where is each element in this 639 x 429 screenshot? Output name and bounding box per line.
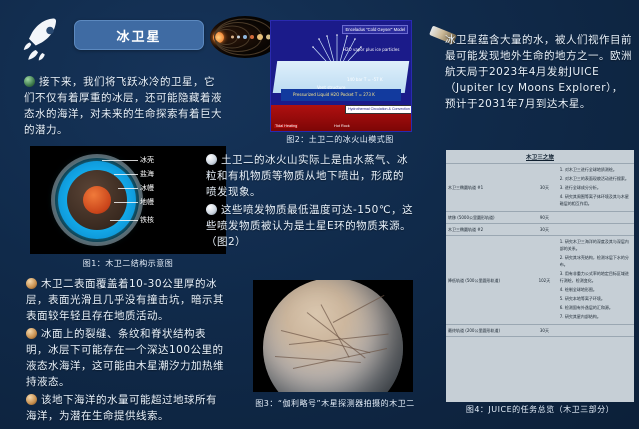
table-objective-item: 5. 研究本地等离子环境。 bbox=[560, 295, 632, 302]
europa-globe bbox=[263, 280, 403, 392]
mission-table: 木卫三椭圆轨道 #130天1. 对木卫三进行全球地质测绘。2. 对木卫三的表面现… bbox=[446, 163, 634, 337]
table-objective-item: 4. 绘制全球地形图。 bbox=[560, 286, 632, 293]
middle-paragraph-1: 土卫二的冰火山实际上是由水蒸气、冰粒和有机物质等物质从地下喷出，形成的喷发现象。 bbox=[206, 152, 414, 200]
table-row: 转移 (5000公里圆形轨道)90天 bbox=[446, 212, 634, 224]
middle-paragraphs: 土卫二的冰火山实际上是由水蒸气、冰粒和有机物质等物质从地下喷出，形成的喷发现象。… bbox=[206, 152, 414, 250]
figure4-caption: 图4：JUICE的任务总览（木卫三部分） bbox=[446, 404, 634, 415]
middle-text-2: 这些喷发物质最低温度可达-150℃，这些喷发物质被认为是土星E环的物质来源。（图… bbox=[206, 204, 413, 248]
figure1-label-4: 铁核 bbox=[140, 215, 154, 225]
figure2-label-4: Hydrothermal Circulation & Convection bbox=[345, 105, 412, 114]
figure2-label-3: Pressurized Liquid H2O Pocket T = 273 K bbox=[293, 92, 375, 97]
right-intro-text: 冰卫星蕴含大量的水，被人们视作目前最可能发现地外生命的地方之一。欧洲航天局于20… bbox=[445, 34, 632, 110]
slide-header: 冰卫星 bbox=[12, 10, 272, 64]
table-row: 木卫三椭圆轨道 #130天1. 对木卫三进行全球地质测绘。2. 对木卫三的表面现… bbox=[446, 164, 634, 212]
bottom-text-2: 冰面上的裂缝、条纹和脊状结构表明，冰层下可能存在一个深达100公里的液态水海洋，… bbox=[26, 328, 224, 388]
table-cell-objectives: 1. 研究木卫三海洋的深度及其与深层内部的关系。2. 研究其冰壳结构，检测冰层下… bbox=[558, 236, 634, 325]
europa-bullet-icon-3 bbox=[26, 394, 37, 405]
table-title: 木卫三之旅 bbox=[446, 150, 634, 163]
table-cell-objectives bbox=[558, 212, 634, 224]
figure1-caption: 图1：木卫二结构示意图 bbox=[30, 258, 226, 269]
slide-canvas: 冰卫星 接下来，我们将飞跃冰冷的卫星，它们不仅有着厚重的冰层，还可能隐藏着液态水… bbox=[0, 0, 639, 429]
slide-title-pill: 冰卫星 bbox=[74, 20, 204, 50]
bottom-text-1: 木卫二表面覆盖着10-30公里厚的冰层，表面光滑且几乎没有撞击坑，暗示其表面较年… bbox=[26, 278, 224, 322]
europa-bullet-icon-1 bbox=[26, 278, 37, 289]
rocket-icon bbox=[18, 14, 70, 62]
intro-paragraph: 接下来，我们将飞跃冰冷的卫星，它们不仅有着厚重的冰层，还可能隐藏着液态水的海洋，… bbox=[24, 74, 224, 138]
bottom-paragraphs: 木卫二表面覆盖着10-30公里厚的冰层，表面光滑且几乎没有撞击坑，暗示其表面较年… bbox=[26, 276, 226, 424]
middle-paragraph-2: 这些喷发物质最低温度可达-150℃，这些喷发物质被认为是土星E环的物质来源。（图… bbox=[206, 202, 414, 250]
table-cell-phase: 最终轨道 (200公里圆形轨道) bbox=[446, 325, 531, 337]
bottom-paragraph-2: 冰面上的裂缝、条纹和脊状结构表明，冰层下可能存在一个深达100公里的液态水海洋，… bbox=[26, 326, 226, 390]
figure1-label-1: 盐海 bbox=[140, 169, 154, 179]
table-cell-duration: 90天 bbox=[531, 212, 558, 224]
mission-table-body: 木卫三椭圆轨道 #130天1. 对木卫三进行全球地质测绘。2. 对木卫三的表面现… bbox=[446, 164, 634, 337]
table-objective-item: 1. 研究木卫三海洋的深度及其与深层内部的关系。 bbox=[560, 238, 632, 252]
table-cell-objectives bbox=[558, 325, 634, 337]
bottom-text-3: 该地下海洋的水量可能超过地球所有海洋，为潜在生命提供线索。 bbox=[26, 394, 217, 422]
table-objective-item: 3. 进行全球成分分析。 bbox=[560, 184, 632, 191]
table-cell-objectives bbox=[558, 224, 634, 236]
figure2-label-0: H2O vapor plus ice particles bbox=[343, 47, 399, 52]
table-objective-item: 2. 研究其冰壳结构，检测冰层下水的分布。 bbox=[560, 254, 632, 268]
figure2-label-6: Hot Rock bbox=[333, 124, 351, 128]
figure1-europa-cross-section: 冰壳 盐海 冰幔 地幔 铁核 bbox=[30, 146, 226, 254]
figure2-caption: 图2：土卫二的冰火山模式图 bbox=[270, 134, 410, 145]
table-cell-duration: 30天 bbox=[531, 224, 558, 236]
figure2-label-5: Tidal Heating bbox=[274, 124, 298, 128]
page-title: 冰卫星 bbox=[116, 26, 161, 45]
table-cell-objectives: 1. 对木卫三进行全球地质测绘。2. 对木卫三的表面现貌活动进行搜索。3. 进行… bbox=[558, 164, 634, 212]
moon-bullet-icon-2 bbox=[206, 204, 217, 215]
figure3-caption: 图3：“伽利略号”木星探测器拍摄的木卫二 bbox=[245, 398, 425, 409]
table-row: 木卫三椭圆轨道 #230天 bbox=[446, 224, 634, 236]
table-row: 最终轨道 (200公里圆形轨道)30天 bbox=[446, 325, 634, 337]
figure1-label-2: 冰幔 bbox=[140, 183, 154, 193]
table-objective-item: 6. 检测固有外逸层的汇和源。 bbox=[560, 304, 632, 311]
table-cell-phase: 转移 (5000公里圆形轨道) bbox=[446, 212, 531, 224]
figure4-juice-mission-table: 木卫三之旅 木卫三椭圆轨道 #130天1. 对木卫三进行全球地质测绘。2. 对木… bbox=[446, 150, 634, 402]
figure1-label-0: 冰壳 bbox=[140, 155, 154, 165]
right-intro-paragraph: 冰卫星蕴含大量的水，被人们视作目前最可能发现地外生命的地方之一。欧洲航天局于20… bbox=[445, 32, 633, 112]
figure1-label-3: 地幔 bbox=[140, 197, 154, 207]
table-cell-phase: 木卫三椭圆轨道 #2 bbox=[446, 224, 531, 236]
table-cell-duration: 102天 bbox=[531, 236, 558, 325]
green-planet-bullet-icon bbox=[24, 76, 35, 87]
figure3-europa-photo bbox=[253, 280, 413, 392]
table-cell-phase: 木卫三椭圆轨道 #1 bbox=[446, 164, 531, 212]
middle-text-1: 土卫二的冰火山实际上是由水蒸气、冰粒和有机物质等物质从地下喷出，形成的喷发现象。 bbox=[206, 154, 408, 198]
figure2-cryovolcano-model: Enceladus "Cold Geyser" Model H2O vapor … bbox=[270, 20, 412, 132]
figure2-label-1: 140 bar T = -57 K bbox=[347, 77, 383, 82]
moon-bullet-icon-1 bbox=[206, 154, 217, 165]
table-cell-phase: 降低轨道 (500公里圆形轨道) bbox=[446, 236, 531, 325]
table-cell-duration: 30天 bbox=[531, 325, 558, 337]
intro-text: 接下来，我们将飞跃冰冷的卫星，它们不仅有着厚重的冰层，还可能隐藏着液态水的海洋，… bbox=[24, 76, 222, 136]
bottom-paragraph-3: 该地下海洋的水量可能超过地球所有海洋，为潜在生命提供线索。 bbox=[26, 392, 226, 424]
table-objective-item: 2. 对木卫三的表面现貌活动进行搜索。 bbox=[560, 175, 632, 182]
europa-bullet-icon-2 bbox=[26, 328, 37, 339]
table-objective-item: 7. 研究其星内部结构。 bbox=[560, 313, 632, 320]
figure2-label-2: Vent structure bbox=[317, 85, 345, 90]
table-objective-item: 3. 用有非重力公式率的地定目标区域进行测绘，检测变化。 bbox=[560, 270, 632, 284]
table-objective-item: 1. 对木卫三进行全球地质测绘。 bbox=[560, 166, 632, 173]
bottom-paragraph-1: 木卫二表面覆盖着10-30公里厚的冰层，表面光滑且几乎没有撞击坑，暗示其表面较年… bbox=[26, 276, 226, 324]
table-objective-item: 4. 研究其周围等离子体环境及其与木星磁层的相互作用。 bbox=[560, 193, 632, 207]
table-row: 降低轨道 (500公里圆形轨道)102天1. 研究木卫三海洋的深度及其与深层内部… bbox=[446, 236, 634, 325]
table-cell-duration: 30天 bbox=[531, 164, 558, 212]
